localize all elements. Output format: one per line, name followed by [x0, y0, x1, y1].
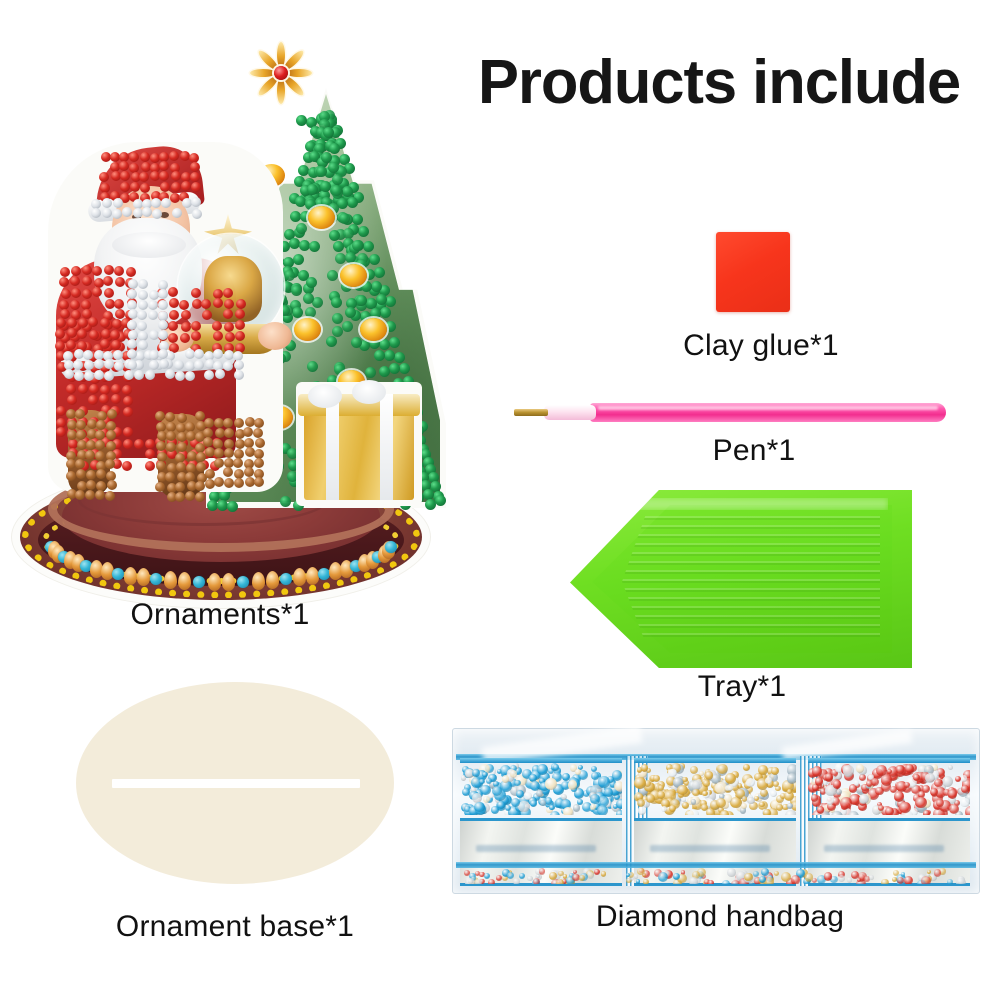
ornaments-product-image — [8, 18, 438, 588]
rhinestone — [519, 873, 525, 879]
tray-highlight — [596, 498, 888, 510]
rhinestone — [524, 792, 532, 800]
packet-foil-print — [650, 845, 770, 852]
rhinestone — [527, 876, 533, 882]
rhinestone — [869, 875, 873, 879]
rhinestone — [913, 774, 920, 781]
rhinestone — [744, 873, 753, 882]
rhinestone — [518, 801, 529, 812]
rhinestone — [934, 869, 941, 876]
rhinestone — [923, 810, 930, 815]
rhinestone — [843, 765, 855, 777]
rhinestone — [491, 806, 499, 814]
rhinestone — [657, 791, 665, 799]
product-include-poster: Products include — [0, 0, 1001, 1001]
rhinestone — [468, 879, 473, 884]
rhinestone — [942, 776, 953, 787]
rhinestone — [634, 777, 646, 789]
santa-eye-right — [160, 212, 169, 218]
ornament-base-slot — [112, 779, 360, 788]
rhinestone — [956, 878, 965, 884]
rhinestone — [743, 764, 750, 771]
rhinestone — [856, 764, 864, 772]
ornaments-label: Ornaments*1 — [40, 600, 400, 630]
rhinestone — [765, 877, 775, 884]
pen-label: Pen*1 — [656, 436, 852, 466]
rhinestone — [553, 764, 559, 770]
packet-stones — [634, 763, 796, 815]
rhinestone — [682, 802, 689, 809]
star-petal — [277, 78, 285, 104]
rhinestone — [677, 785, 688, 796]
packet-stones — [808, 763, 970, 815]
santa-hand-left — [160, 324, 194, 352]
star-petal — [250, 69, 276, 77]
rhinestone — [812, 766, 823, 777]
rhinestone — [480, 785, 491, 796]
page-title: Products include — [478, 52, 993, 114]
handbag-loose-stones — [458, 868, 974, 884]
rhinestone — [590, 794, 599, 803]
ornament-base-label: Ornament base*1 — [85, 912, 385, 942]
rhinestone — [716, 798, 726, 808]
packet-stones — [460, 763, 622, 815]
rhinestone — [545, 778, 557, 790]
rhinestone — [530, 800, 537, 807]
rhinestone — [965, 806, 970, 815]
rhinestone — [614, 781, 622, 791]
rhinestone — [728, 785, 734, 791]
rhinestone — [742, 796, 748, 802]
pen-product-image — [512, 402, 946, 424]
rhinestone — [484, 873, 490, 879]
clay-glue-label: Clay glue*1 — [613, 331, 909, 361]
rhinestone — [482, 772, 488, 778]
rhinestone — [579, 875, 585, 881]
rhinestone — [717, 764, 727, 774]
rhinestone — [641, 764, 648, 771]
rhinestone — [705, 771, 713, 779]
gift-box — [304, 408, 414, 500]
rhinestone — [601, 871, 606, 876]
rhinestone — [746, 778, 755, 787]
rhinestone — [590, 804, 596, 810]
diamond-handbag-product-image — [452, 728, 980, 894]
rhinestone — [955, 776, 961, 782]
rhinestone — [549, 872, 557, 880]
rhinestone — [763, 809, 771, 815]
pen-highlight — [598, 406, 938, 410]
rhinestone — [948, 789, 958, 799]
rhinestone — [637, 799, 645, 807]
rhinestone — [472, 769, 479, 776]
rhinestone — [708, 880, 714, 884]
rhinestone — [502, 775, 510, 783]
rhinestone — [961, 775, 967, 781]
rhinestone — [881, 879, 889, 884]
rhinestone — [591, 766, 597, 772]
rhinestone — [561, 794, 567, 800]
star-petal — [277, 42, 285, 68]
snow-globe-nativity-scene — [204, 256, 262, 322]
rhinestone — [915, 797, 926, 808]
rhinestone — [897, 877, 904, 884]
rhinestone — [669, 805, 676, 812]
star-petal — [286, 69, 312, 77]
rhinestone — [741, 803, 747, 809]
gift-box-bow-right — [352, 380, 386, 404]
gift-box-ribbon-right — [380, 394, 393, 500]
rhinestone — [474, 802, 485, 813]
rhinestone — [690, 766, 698, 774]
rhinestone — [815, 777, 823, 785]
rhinestone — [876, 765, 887, 776]
rhinestone — [787, 773, 796, 784]
rhinestone — [759, 876, 766, 883]
rhinestone — [488, 879, 495, 884]
rhinestone — [894, 791, 904, 801]
rhinestone — [594, 869, 600, 875]
rhinestone — [871, 778, 879, 786]
tray-product-image — [570, 490, 912, 668]
rhinestone — [598, 776, 610, 788]
rhinestone — [759, 802, 764, 807]
santa-leg-right — [158, 414, 204, 498]
rhinestone — [577, 799, 583, 805]
rhinestone — [921, 876, 930, 884]
rhinestone — [758, 765, 768, 775]
star-center-gem — [274, 66, 288, 80]
rhinestone — [702, 791, 707, 796]
rhinestone — [771, 767, 779, 775]
rhinestone — [634, 874, 638, 878]
rhinestone — [549, 805, 554, 810]
rhinestone — [854, 780, 860, 786]
rhinestone — [513, 878, 520, 884]
santa-hand-right — [258, 322, 292, 350]
gift-box-bow-left — [308, 384, 342, 408]
rhinestone — [848, 811, 860, 815]
rhinestone — [904, 876, 913, 884]
rhinestone — [747, 797, 754, 804]
rhinestone — [722, 880, 730, 884]
rhinestone — [947, 879, 953, 884]
rhinestone — [811, 794, 819, 802]
pen-metal-tip — [514, 409, 548, 416]
rhinestone — [774, 871, 779, 876]
rhinestone — [510, 770, 517, 777]
rhinestone — [703, 780, 710, 787]
rhinestone — [691, 799, 696, 804]
packet-foil-print — [824, 845, 944, 852]
rhinestone — [668, 769, 676, 777]
rhinestone — [791, 875, 800, 884]
rhinestone — [616, 799, 622, 810]
diamond-handbag-label: Diamond handbag — [570, 902, 870, 932]
santa-mustache — [112, 232, 186, 258]
santa-leg-left — [68, 410, 110, 496]
rhinestone — [533, 878, 540, 884]
rhinestone — [653, 775, 660, 782]
rhinestone — [720, 810, 729, 815]
rhinestone — [636, 879, 640, 883]
rhinestone — [540, 800, 546, 806]
rhinestone — [643, 879, 649, 884]
star-topper-icon — [248, 40, 314, 106]
rhinestone — [616, 810, 622, 815]
rhinestone — [638, 806, 647, 815]
tray-label: Tray*1 — [642, 672, 842, 702]
rhinestone — [840, 797, 852, 809]
packet-foil-print — [476, 845, 596, 852]
rhinestone — [765, 777, 772, 784]
gift-box-ribbon-left — [326, 394, 339, 500]
rhinestone — [507, 872, 514, 879]
rhinestone — [847, 877, 853, 883]
pen-ferrule — [544, 405, 596, 420]
rhinestone — [692, 789, 699, 796]
rhinestone — [824, 872, 833, 881]
tree-rhinestone — [296, 115, 307, 126]
clay-glue-product-image — [716, 232, 790, 312]
rhinestone — [637, 868, 644, 875]
rhinestone — [563, 807, 573, 815]
rhinestone — [539, 868, 546, 875]
rhinestone — [838, 875, 845, 882]
rhinestone — [658, 872, 668, 882]
rhinestone — [479, 779, 485, 785]
rhinestone — [948, 765, 953, 770]
rhinestone — [475, 879, 482, 884]
rhinestone — [689, 877, 698, 884]
rhinestone — [899, 802, 910, 813]
rhinestone — [885, 807, 894, 815]
rhinestone — [878, 805, 884, 811]
tray-grooves — [622, 516, 880, 642]
rhinestone — [597, 805, 608, 815]
rhinestone — [896, 765, 904, 773]
rhinestone — [934, 779, 943, 788]
rhinestone — [604, 788, 613, 797]
